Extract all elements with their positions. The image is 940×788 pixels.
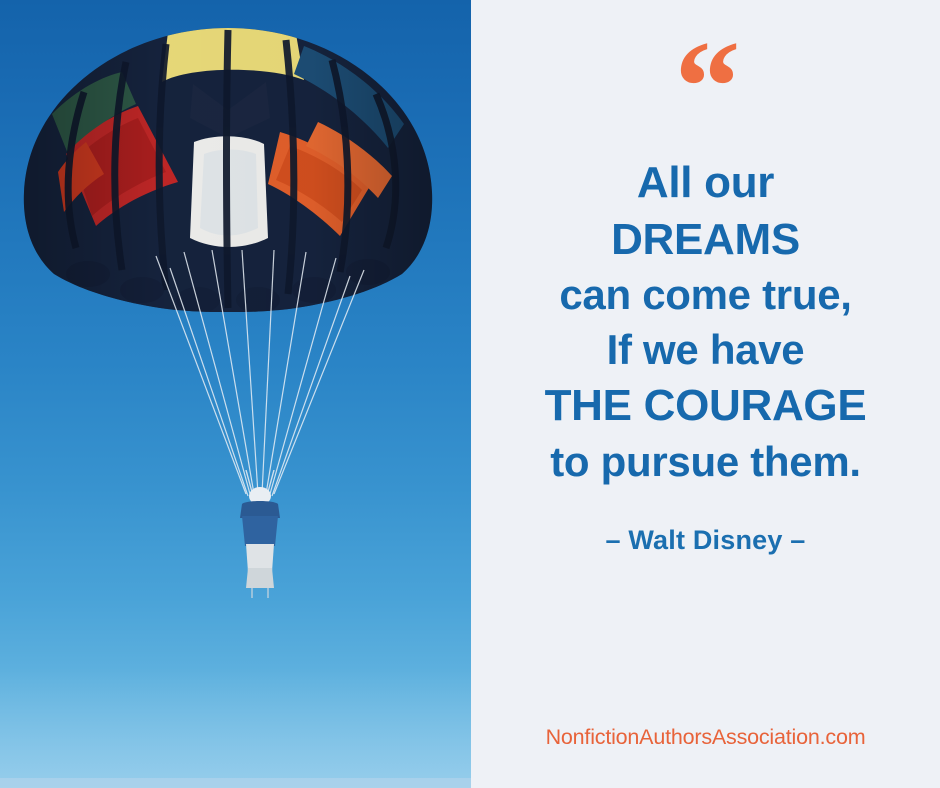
quote-line-1: All our — [471, 154, 940, 211]
parachutist-figure-icon — [222, 470, 302, 600]
quote-line-5: THE COURAGE — [471, 377, 940, 434]
quote-line-4: If we have — [471, 323, 940, 378]
quotation-mark-icon: “ — [675, 46, 737, 128]
quote-text: All our DREAMS can come true, If we have… — [471, 154, 940, 489]
quote-line-6: to pursue them. — [471, 435, 940, 490]
sky-haze — [0, 668, 471, 788]
photo-bottom-strip — [0, 778, 471, 788]
quote-line-2: DREAMS — [471, 211, 940, 268]
website-url: NonfictionAuthorsAssociation.com — [471, 725, 940, 750]
quote-panel: “ All our DREAMS can come true, If we ha… — [471, 0, 940, 788]
parachute-photo — [0, 0, 471, 788]
quote-attribution: – Walt Disney – — [605, 525, 805, 556]
quote-line-3: can come true, — [471, 268, 940, 323]
quote-graphic: “ All our DREAMS can come true, If we ha… — [0, 0, 940, 788]
